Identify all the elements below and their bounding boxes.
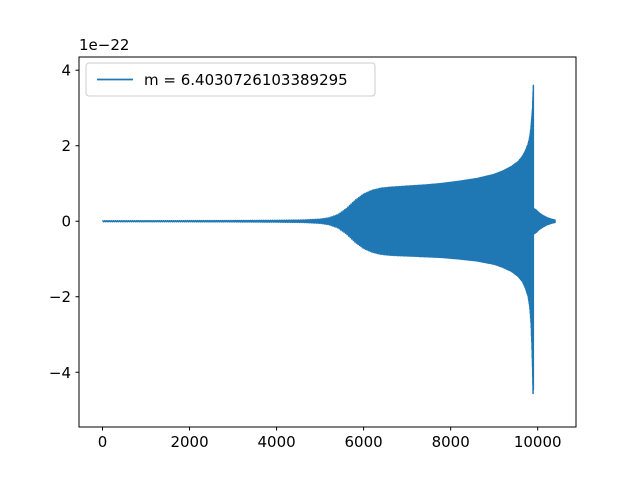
x-tick-label: 10000 — [514, 433, 562, 451]
matplotlib-figure: 0200040006000800010000 −4−2024 1e−22 m =… — [0, 0, 640, 480]
y-tick-label: 2 — [61, 137, 71, 155]
y-tick-label: −2 — [49, 288, 71, 306]
x-tick-label: 6000 — [345, 433, 383, 451]
x-tick-label: 2000 — [170, 433, 208, 451]
x-tick-label: 0 — [98, 433, 108, 451]
legend[interactable]: m = 6.4030726103389295 — [86, 63, 375, 96]
y-axis-offset-label: 1e−22 — [79, 36, 129, 54]
chart-canvas: 0200040006000800010000 −4−2024 1e−22 m =… — [0, 0, 640, 480]
x-tick-label: 4000 — [257, 433, 295, 451]
legend-label-0: m = 6.4030726103389295 — [144, 71, 348, 89]
y-tick-label: −4 — [49, 364, 71, 382]
y-tick-label: 4 — [61, 62, 71, 80]
x-tick-label: 8000 — [432, 433, 470, 451]
y-tick-label: 0 — [61, 213, 71, 231]
